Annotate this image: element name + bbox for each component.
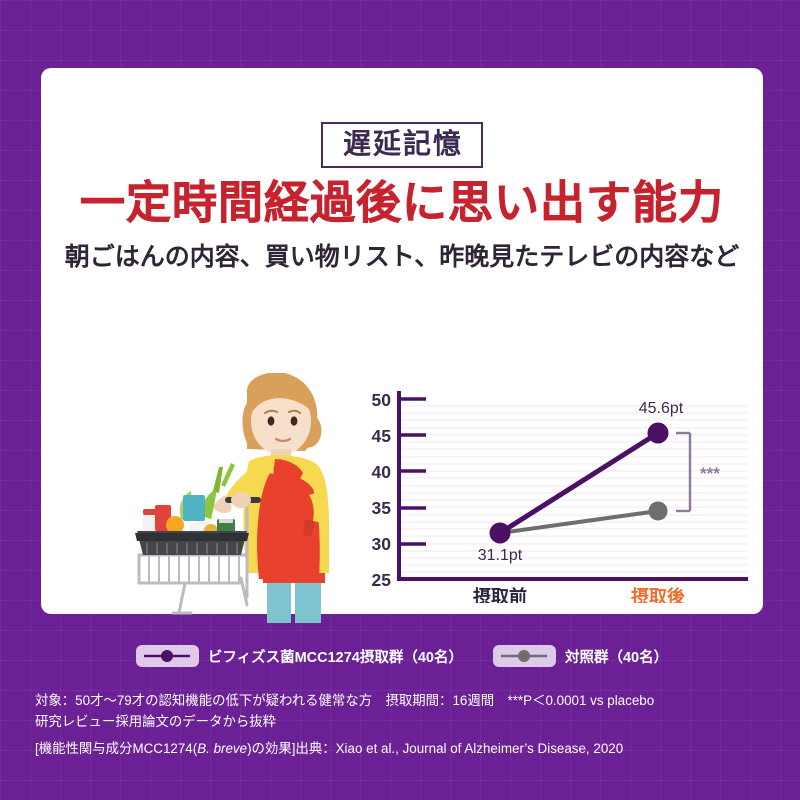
series-treatment-line bbox=[500, 433, 658, 533]
point-label-before: 31.1pt bbox=[478, 547, 523, 564]
footnote-line-2: 研究レビュー採用論文のデータから抜粋 bbox=[35, 712, 775, 733]
x-label-before: 摂取前 bbox=[473, 586, 527, 603]
page-subtitle: 朝ごはんの内容、買い物リスト、昨晚見たテレビの内容など bbox=[41, 245, 763, 270]
y-tick-35: 35 bbox=[372, 498, 392, 518]
footnote-line-1: 対象：50才〜79才の認知機能の低下が疑われる健常な方 摂取期間：16週間 **… bbox=[35, 691, 775, 712]
significance-bracket bbox=[676, 433, 690, 511]
woman-pushing-shopping-cart-illustration bbox=[129, 373, 361, 625]
content-card: 遅延記憶 一定時間経過後に思い出す能力 朝ごはんの内容、買い物リスト、昨晚見たテ… bbox=[41, 68, 763, 614]
y-tick-45: 45 bbox=[372, 426, 392, 446]
legend-swatch-treatment-icon bbox=[136, 645, 199, 667]
kicker-container: 遅延記憶 bbox=[41, 122, 763, 168]
footnote-species-italic: B. breve bbox=[197, 741, 247, 756]
legend-swatch-control-icon bbox=[493, 645, 556, 667]
delayed-memory-line-chart: 50 45 40 35 30 25 31.1pt 45.6pt bbox=[358, 313, 748, 603]
chart-legend: ビフィズス菌MCC1274摂取群（40名） 対照群（40名） bbox=[41, 645, 763, 667]
y-axis-tick-labels: 50 45 40 35 30 25 bbox=[372, 390, 392, 590]
page-title: 一定時間経過後に思い出す能力 bbox=[41, 180, 763, 225]
footnote-line-3: [機能性関与成分MCC1274(B. breve)の効果]出典：Xiao et … bbox=[35, 739, 775, 760]
kicker-badge: 遅延記憶 bbox=[321, 122, 483, 168]
y-tick-50: 50 bbox=[372, 390, 392, 410]
legend-label-treatment: ビフィズス菌MCC1274摂取群（40名） bbox=[208, 646, 463, 667]
legend-item-treatment: ビフィズス菌MCC1274摂取群（40名） bbox=[136, 645, 463, 667]
footnote-source-prefix: [機能性関与成分MCC1274( bbox=[35, 741, 197, 756]
y-tick-30: 30 bbox=[372, 534, 392, 554]
footnotes: 対象：50才〜79才の認知機能の低下が疑われる健常な方 摂取期間：16週間 **… bbox=[35, 691, 775, 759]
y-tick-25: 25 bbox=[372, 570, 392, 590]
x-label-after: 摂取後 bbox=[631, 586, 686, 603]
legend-item-control: 対照群（40名） bbox=[493, 645, 668, 667]
point-label-after: 45.6pt bbox=[639, 400, 684, 417]
footnote-source-suffix: )の効果]出典：Xiao et al., Journal of Alzheime… bbox=[247, 741, 623, 756]
series-treatment-point-2 bbox=[648, 423, 669, 444]
significance-label: *** bbox=[700, 464, 720, 483]
series-treatment-point-1 bbox=[490, 523, 511, 544]
y-tick-40: 40 bbox=[372, 462, 392, 482]
series-control-point-2 bbox=[649, 502, 668, 521]
legend-label-control: 対照群（40名） bbox=[565, 646, 668, 667]
